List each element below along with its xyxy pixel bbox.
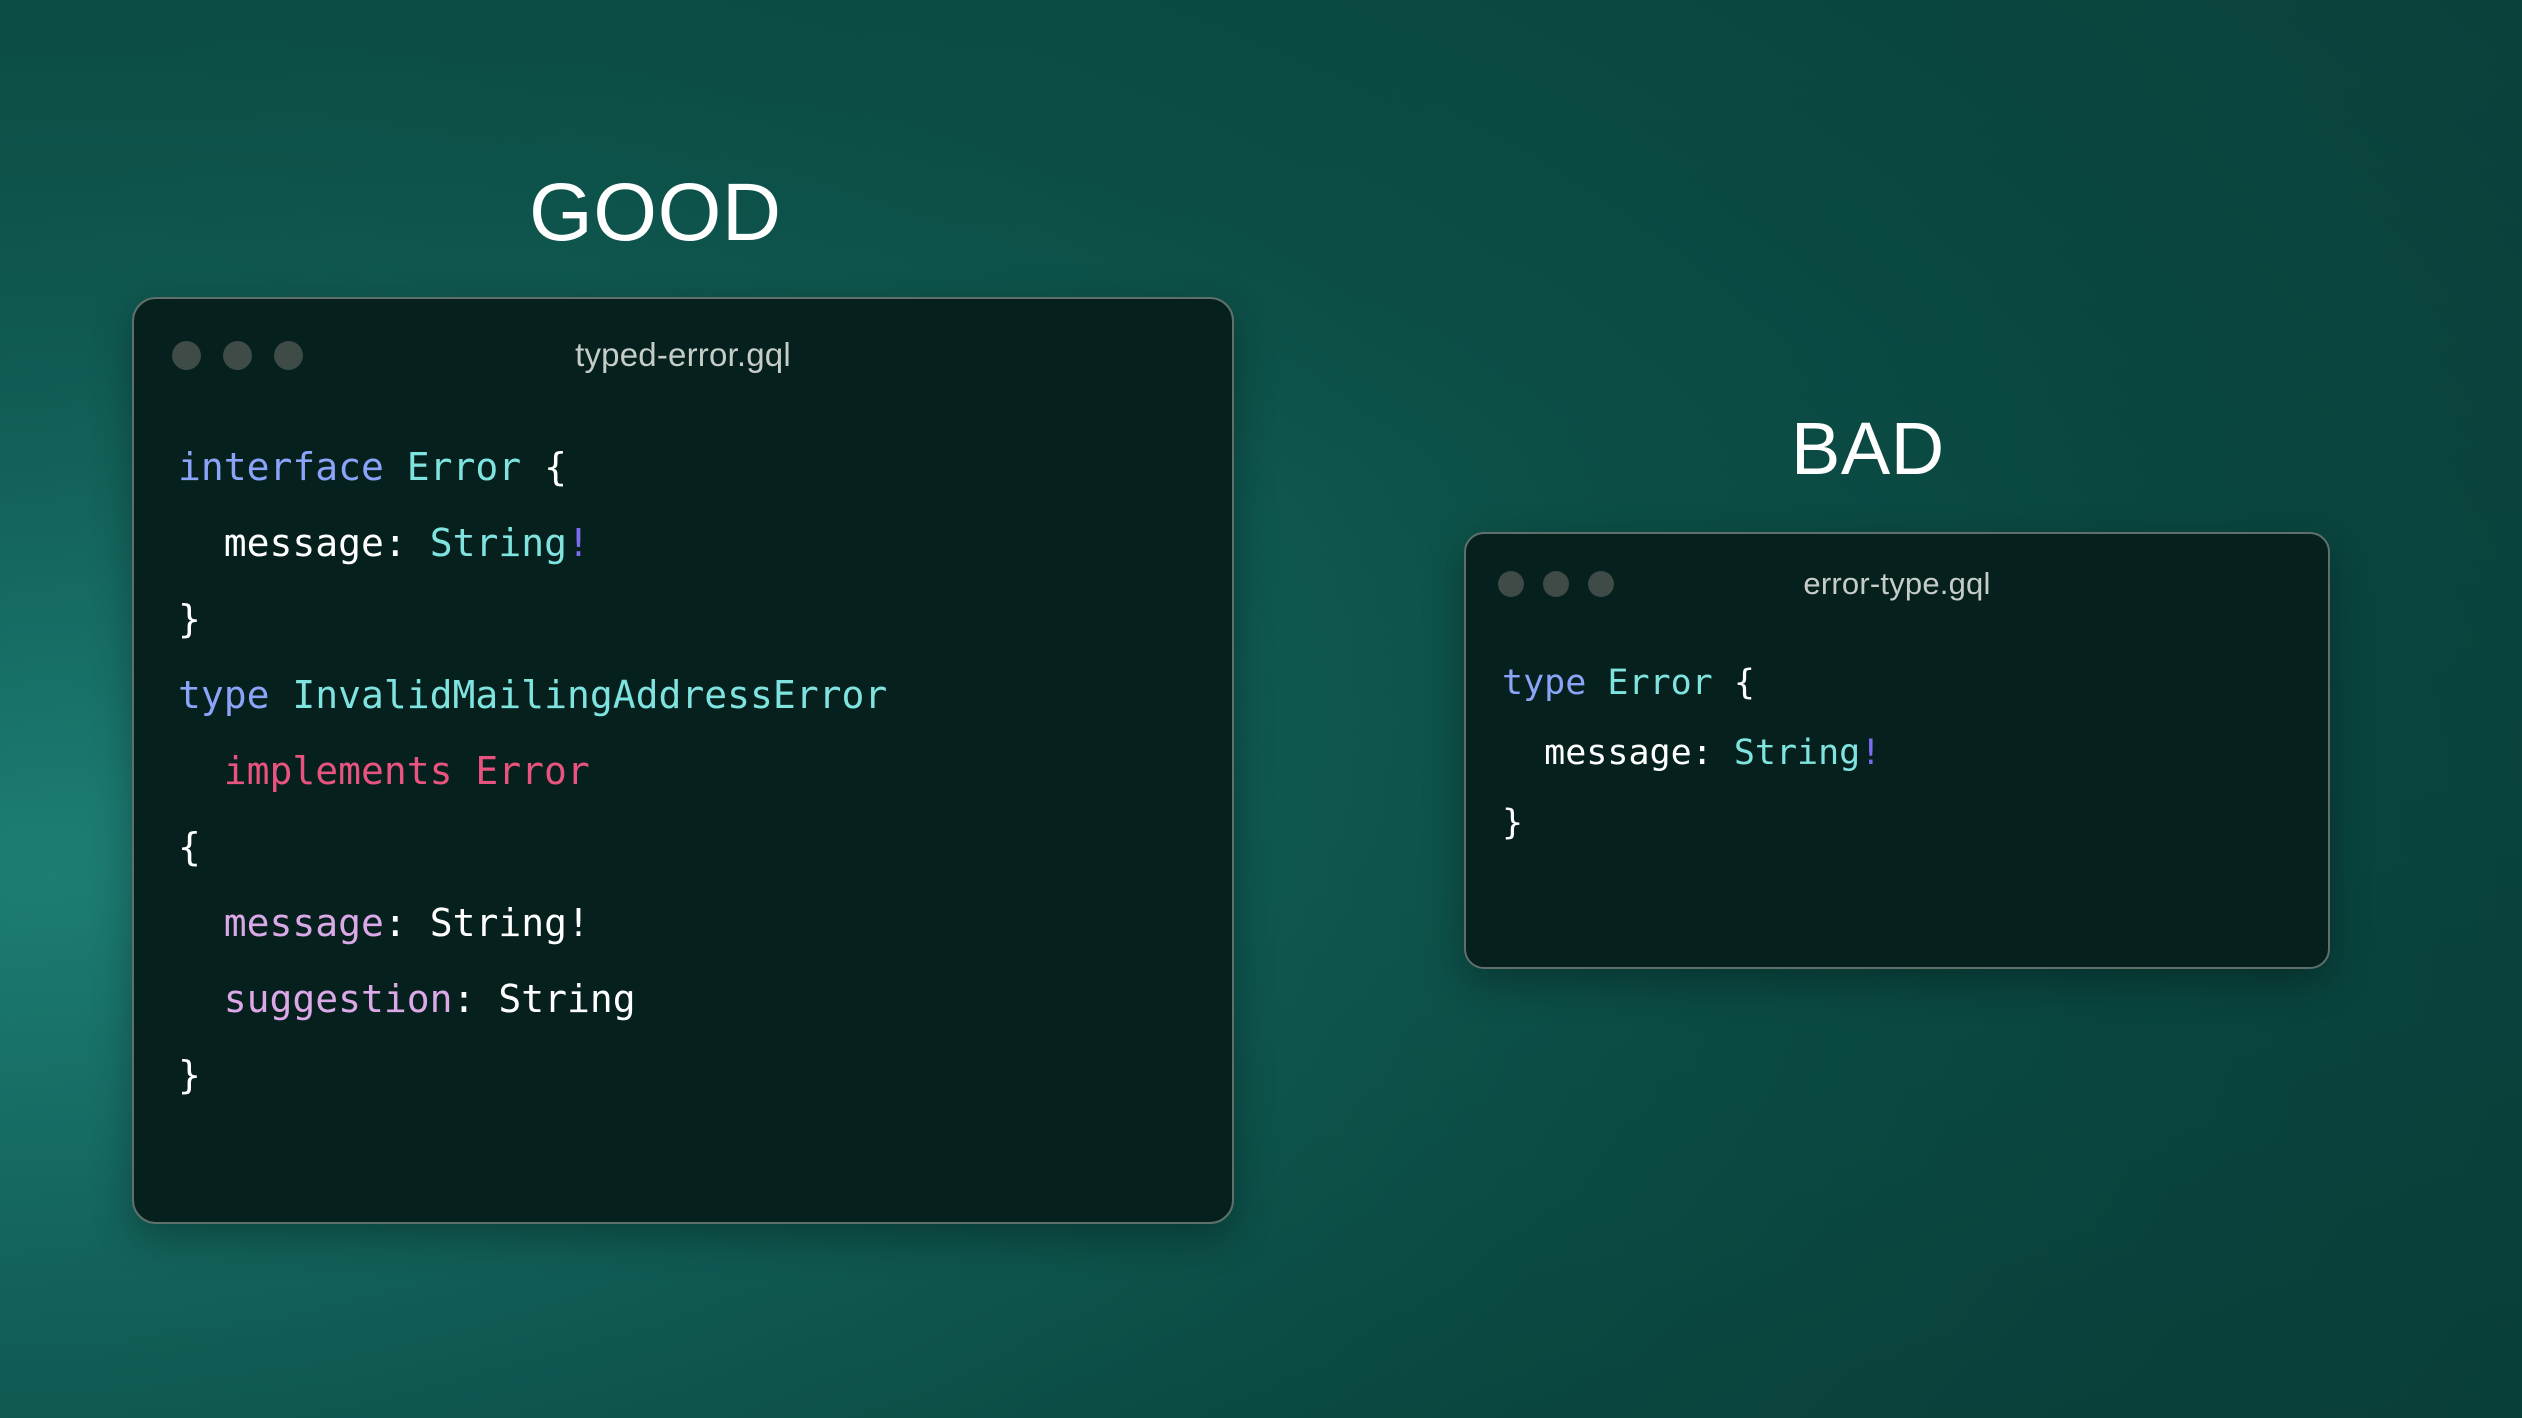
code-window-bad: error-type.gql type Error { message: Str… bbox=[1464, 532, 2330, 969]
code-token-punct: } bbox=[178, 597, 201, 641]
code-token-punct: : bbox=[384, 901, 430, 945]
code-token-plain bbox=[1502, 733, 1544, 773]
titlebar-bad: error-type.gql bbox=[1466, 534, 2328, 634]
code-token-plain bbox=[521, 445, 544, 489]
code-token-keyword: type bbox=[178, 673, 270, 717]
code-token-field: message bbox=[1544, 733, 1692, 773]
code-token-keyword: interface bbox=[178, 445, 384, 489]
code-token-punct: } bbox=[1502, 803, 1523, 843]
code-line: type InvalidMailingAddressError bbox=[178, 657, 1232, 733]
window-dot-minimize-icon[interactable] bbox=[223, 341, 252, 370]
heading-bad: BAD bbox=[1791, 412, 1945, 486]
code-token-punct: { bbox=[178, 825, 201, 869]
code-token-punct: } bbox=[178, 1053, 201, 1097]
code-block-bad: type Error { message: String! } bbox=[1466, 634, 2328, 858]
code-token-punct: { bbox=[544, 445, 567, 489]
code-token-plain: ! bbox=[567, 901, 590, 945]
code-token-punct: : bbox=[1692, 733, 1734, 773]
code-token-field-alt: message bbox=[224, 901, 384, 945]
code-token-field: message bbox=[224, 521, 384, 565]
code-line: message: String! bbox=[1502, 718, 2328, 788]
code-token-implements: implements Error bbox=[224, 749, 590, 793]
code-line: type Error { bbox=[1502, 648, 2328, 718]
code-token-type: Error bbox=[1607, 663, 1712, 703]
code-line: message: String! bbox=[178, 505, 1232, 581]
code-line: suggestion: String bbox=[178, 961, 1232, 1037]
window-dot-minimize-icon[interactable] bbox=[1543, 571, 1569, 597]
code-token-bang: ! bbox=[1860, 733, 1881, 773]
code-token-plain bbox=[178, 901, 224, 945]
code-token-plain bbox=[178, 977, 224, 1021]
code-token-plain bbox=[384, 445, 407, 489]
window-controls-bad bbox=[1498, 571, 1614, 597]
code-token-bang: ! bbox=[567, 521, 590, 565]
window-dot-maximize-icon[interactable] bbox=[274, 341, 303, 370]
code-block-good: interface Error { message: String! } typ… bbox=[134, 411, 1232, 1113]
code-token-scalar-alt: String bbox=[498, 977, 635, 1021]
window-dot-maximize-icon[interactable] bbox=[1588, 571, 1614, 597]
code-line: } bbox=[178, 1037, 1232, 1113]
code-token-scalar: String bbox=[430, 521, 567, 565]
code-token-plain bbox=[1713, 663, 1734, 703]
code-token-punct: { bbox=[1734, 663, 1755, 703]
code-token-plain bbox=[178, 749, 224, 793]
comparison-stage: GOOD typed-error.gql interface Error { m… bbox=[0, 0, 2522, 1418]
code-window-good: typed-error.gql interface Error { messag… bbox=[132, 297, 1234, 1224]
heading-good: GOOD bbox=[529, 172, 782, 254]
code-line: implements Error bbox=[178, 733, 1232, 809]
code-token-punct: : bbox=[453, 977, 499, 1021]
code-token-scalar-alt: String bbox=[430, 901, 567, 945]
window-dot-close-icon[interactable] bbox=[1498, 571, 1524, 597]
code-token-keyword: type bbox=[1502, 663, 1586, 703]
code-line: message: String! bbox=[178, 885, 1232, 961]
code-token-scalar: String bbox=[1734, 733, 1860, 773]
code-line: interface Error { bbox=[178, 429, 1232, 505]
titlebar-good: typed-error.gql bbox=[134, 299, 1232, 411]
code-token-type: InvalidMailingAddressError bbox=[292, 673, 887, 717]
code-token-type: Error bbox=[407, 445, 521, 489]
code-line: } bbox=[178, 581, 1232, 657]
window-controls-good bbox=[172, 341, 303, 370]
code-token-plain bbox=[1586, 663, 1607, 703]
code-token-plain bbox=[178, 521, 224, 565]
code-token-field-alt: suggestion bbox=[224, 977, 453, 1021]
code-token-plain bbox=[270, 673, 293, 717]
code-line: { bbox=[178, 809, 1232, 885]
code-line: } bbox=[1502, 788, 2328, 858]
window-dot-close-icon[interactable] bbox=[172, 341, 201, 370]
code-token-punct: : bbox=[384, 521, 430, 565]
